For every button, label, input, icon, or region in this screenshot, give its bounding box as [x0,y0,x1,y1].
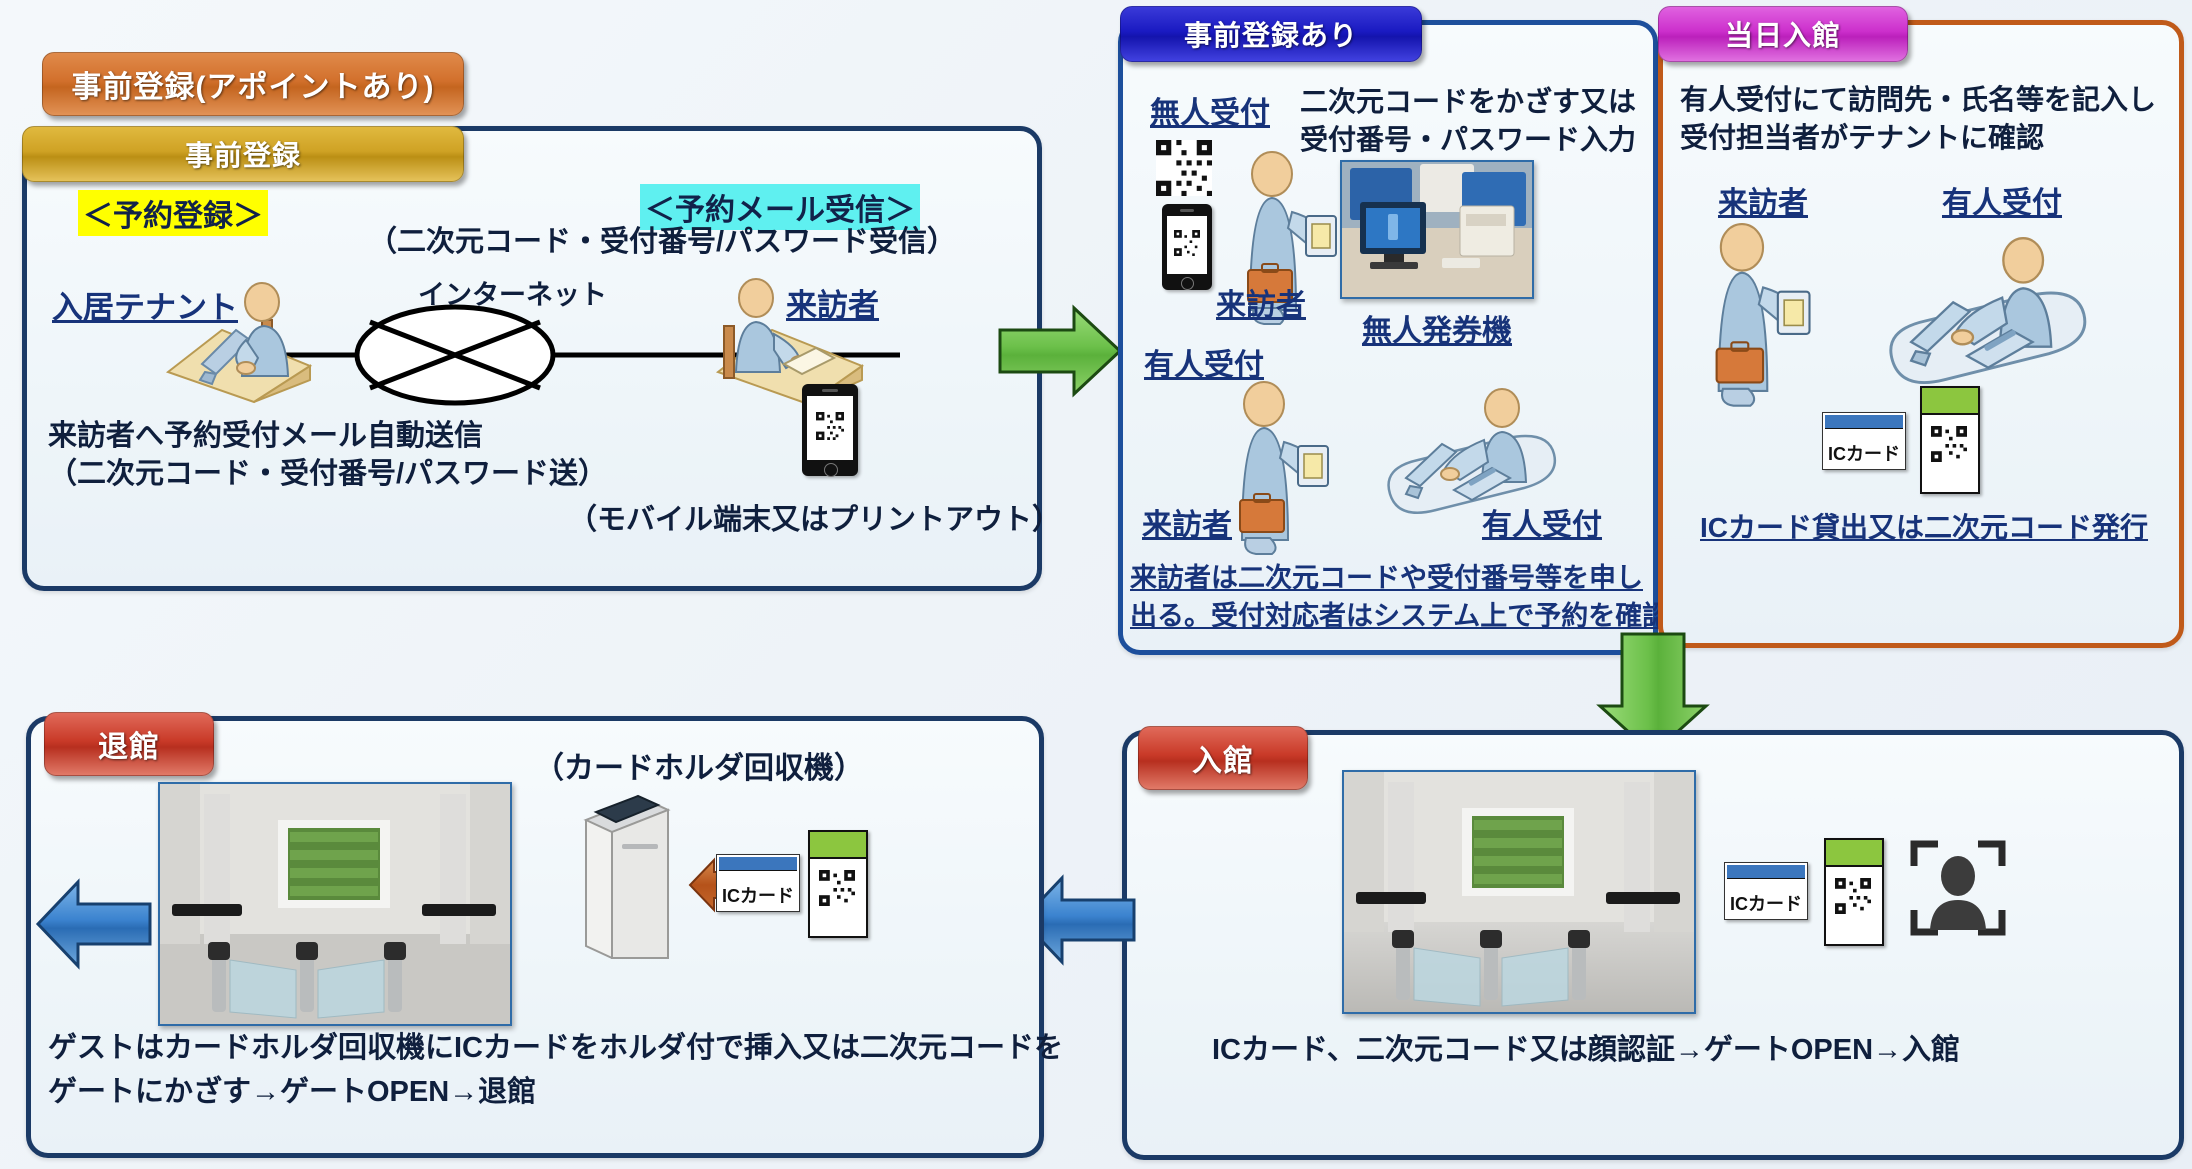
text-visitor-declares-code-line2: 出る。受付対応者はシステム上で予約を確認 [1130,594,1669,633]
entry-gate-photo [1342,770,1696,1014]
text-exit-footer-line2: ゲートにかざす→ゲートOPEN→退館 [48,1074,536,1111]
label-visitor-panel2-top: 来訪者 [1216,280,1306,324]
ic-card-icon-exit: ICカード [716,854,800,912]
label-card-holder-collector: （カードホルダ回収機） [534,750,864,788]
note-code-number-password-received: （二次元コード・受付番号/パスワード受信） [368,224,956,261]
label-reservation-registration: ＜予約登録＞ [78,190,268,236]
blue-left-arrow-exit-icon [34,872,154,977]
text-hold-code-line1: 二次元コードをかざす又は [1300,84,1636,120]
exit-gate-photo [158,782,512,1026]
face-recognition-icon [1910,838,2006,938]
label-ticket-machine: 無人発券機 [1362,306,1512,350]
label-manned-reception-panel2: 有人受付 [1144,340,1264,384]
ic-card-icon-entry: ICカード [1724,862,1808,920]
tab-exit[interactable]: 退館 [44,712,214,776]
tab-pre-registration-appointment[interactable]: 事前登録(アポイントあり) [42,52,464,116]
label-visitor-panel2-bottom: 来訪者 [1142,500,1232,544]
ic-card-label-exit: ICカード [717,882,799,908]
label-visitor-panel3: 来訪者 [1718,178,1808,222]
text-exit-footer-line1: ゲストはカードホルダ回収機にICカードをホルダ付で挿入又は二次元コードを [48,1030,1063,1067]
label-unmanned-reception: 無人受付 [1150,88,1270,132]
text-same-day-instruction-line2: 受付担当者がテナントに確認 [1680,120,2044,156]
text-same-day-instruction-line1: 有人受付にて訪問先・氏名等を記入し [1680,82,2156,118]
diagram-canvas: 事前登録(アポイントあり) 事前登録 ＜予約登録＞ ＜予約メール受信＞ （二次元… [0,0,2192,1169]
qr-card-icon-exit [808,830,868,938]
green-right-arrow-icon [996,296,1126,406]
text-auto-send-mail-line2: （二次元コード・受付番号/パスワード送） [48,456,607,493]
reception-desk-icon-panel3 [1872,230,2102,405]
visitor-standing-icon-panel3 [1692,222,1832,412]
qr-code-icon-panel2 [1156,140,1212,196]
ic-card-icon-panel3: ICカード [1822,412,1906,470]
qr-card-icon-panel3 [1920,386,1980,494]
ticket-machine-photo [1340,160,1534,299]
visitor-standing-icon-bottom [1218,380,1348,560]
text-mobile-or-printout: （モバイル端末又はプリントアウト） [568,502,1061,539]
tenant-at-desk-icon [150,268,330,408]
qr-card-icon-entry [1824,838,1884,946]
tab-pre-registration[interactable]: 事前登録 [22,126,464,182]
ic-card-label-panel3: ICカード [1823,440,1905,466]
mobile-phone-qr-icon [802,384,858,476]
text-visitor-declares-code-line1: 来訪者は二次元コードや受付番号等を申し [1130,556,1643,595]
tab-entry[interactable]: 入館 [1138,726,1308,790]
card-holder-collector-icon [572,786,682,966]
text-entry-footer: ICカード、二次元コード又は顔認証→ゲートOPEN→入館 [1212,1032,1960,1069]
mobile-phone-qr-icon-panel2 [1162,204,1212,290]
ic-card-label-entry: ICカード [1725,890,1807,916]
tab-same-day-entry[interactable]: 当日入館 [1658,6,1908,62]
label-reception-panel3: 有人受付 [1942,178,2062,222]
label-manned-reception-panel2-bottom: 有人受付 [1482,500,1602,544]
text-auto-send-mail-line1: 来訪者へ予約受付メール自動送信 [48,418,483,455]
tab-pre-registered[interactable]: 事前登録あり [1120,6,1422,62]
text-ic-card-lending-or-qr-issue: ICカード貸出又は二次元コード発行 [1700,506,2148,546]
